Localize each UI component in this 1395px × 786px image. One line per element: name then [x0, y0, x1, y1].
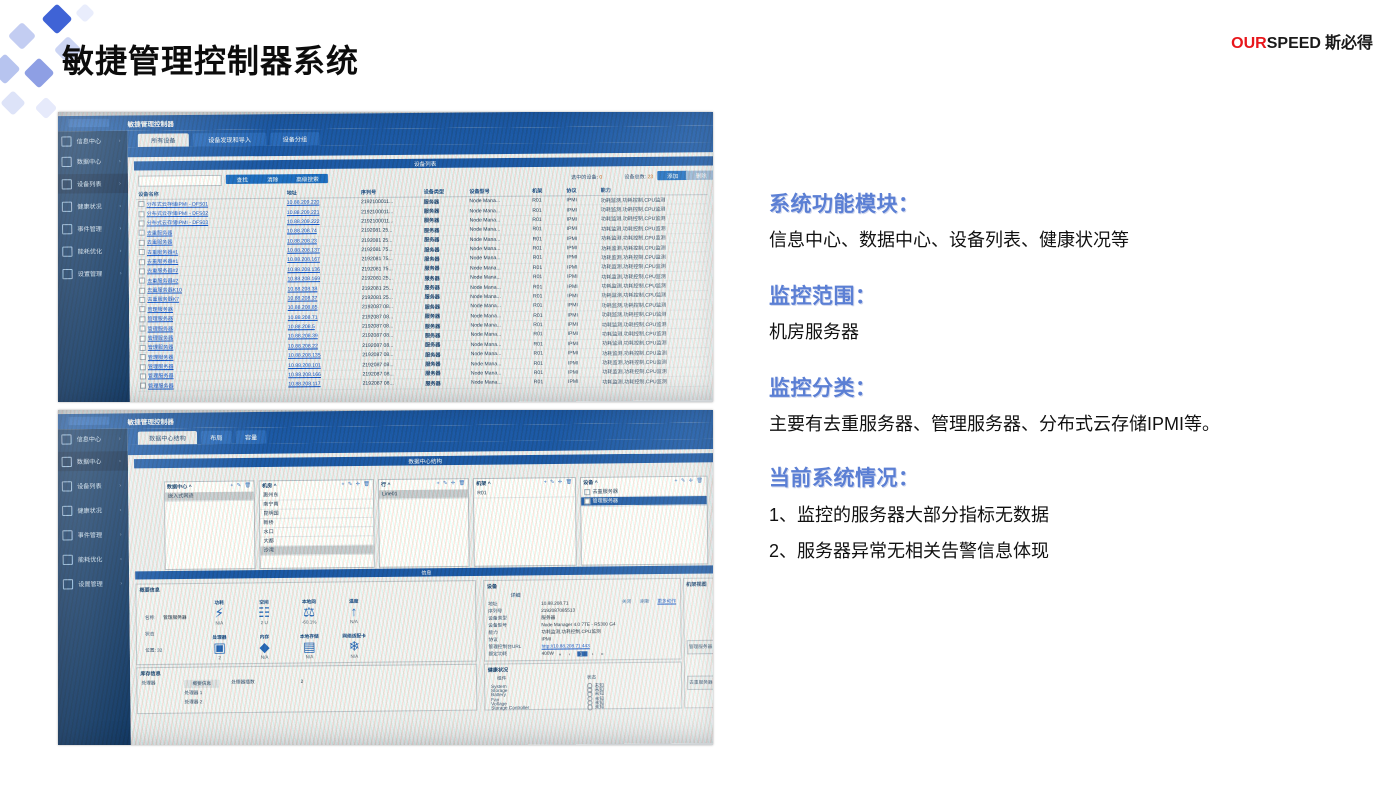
summary-tile: 本地网⚖-60.1% [289, 599, 328, 625]
inventory-mid-cpu2[interactable]: 处理器 2 [184, 699, 202, 705]
cell-6: IPMI [565, 301, 599, 311]
row-checkbox[interactable] [139, 220, 145, 226]
sidebar-label: 事件管理 [78, 530, 103, 539]
field-label: 额定功耗 [489, 651, 508, 657]
inventory-left-item[interactable]: 处理器 [141, 680, 155, 686]
summary-tile: 网络适配卡❄N/A [335, 633, 374, 659]
sidebar-label: 设备列表 [77, 179, 102, 188]
app-title: 敏捷管理控制器 [127, 416, 174, 427]
cell-3: 服务器 [422, 197, 468, 207]
sidebar-item-event[interactable]: 事件管理› [58, 525, 129, 545]
cell-3: 服务器 [423, 292, 469, 302]
section-modules-body: 信息中心、数据中心、设备列表、健康状况等 [769, 227, 1369, 254]
field-label: 设备类型 [488, 615, 507, 621]
total-count-label: 设备总数: 23 [624, 173, 653, 180]
sidebar-label: 能耗优化 [78, 246, 103, 255]
cell-4: Node Mana... [469, 359, 532, 369]
row-checkbox[interactable] [139, 259, 145, 265]
cell-5: R01 [531, 320, 565, 330]
cell-3: 服务器 [423, 340, 469, 350]
scale-icon: ⚖ [290, 605, 329, 620]
cell-5: R01 [532, 358, 566, 368]
sidebar-item-info[interactable]: 信息中心› [58, 131, 128, 151]
cell-6: IPMI [565, 291, 599, 301]
device-card: 设备 详细 更多动作 刷新 关闭 地址10.88.208.71序列号219208… [483, 578, 682, 662]
sidebar-label: 数据中心 [77, 456, 102, 465]
cell-3: 服务器 [423, 369, 469, 379]
cell-3: 服务器 [423, 331, 469, 341]
chevron-right-icon: › [120, 580, 122, 586]
sidebar-item-power[interactable]: 能耗优化› [58, 549, 129, 569]
tree-item[interactable]: 嵌入式网迹 [165, 492, 254, 502]
cell-6: IPMI [565, 253, 599, 263]
section-scope-heading: 监控范围： [769, 280, 1369, 310]
row-checkbox[interactable] [139, 316, 145, 322]
summary-tile: 处理器▣2 [200, 635, 239, 661]
device-detail-label: 详细 [510, 592, 520, 599]
gear-icon [62, 268, 72, 278]
tree-item[interactable]: 沙湾 [261, 545, 374, 555]
cell-6: IPMI [566, 339, 600, 349]
health-icon [62, 505, 72, 515]
find-button[interactable]: 查找 [226, 175, 259, 184]
tile-value: -60.1% [290, 619, 329, 625]
cell-6: IPMI [566, 349, 600, 359]
sidebar-item-info[interactable]: 信息中心› [58, 429, 128, 449]
brand-logo: OURSPEED斯必得 [1231, 29, 1373, 53]
cell-4: Node Mana... [469, 340, 532, 350]
health-caption: 健康状况 [488, 666, 508, 673]
brand-our: OUR [1231, 35, 1267, 52]
row-checkbox[interactable] [138, 211, 144, 217]
field-value: 400W [542, 651, 554, 656]
total-count-value: 23 [648, 174, 654, 180]
cell-6: IPMI [565, 234, 599, 244]
section-category: 监控分类： 主要有去重服务器、管理服务器、分布式云存储IPMI等。 [769, 372, 1369, 438]
cell-5: R01 [531, 349, 565, 359]
cell-2: 2192081 75... [359, 245, 422, 255]
tree-item[interactable]: R01 [474, 488, 575, 498]
cell-6: IPMI [565, 272, 599, 282]
cell-6: IPMI [566, 329, 600, 339]
main-content: 数据中心结构 布局 容量 数据中心结构 数据中心 ^+ ✎ 🗑嵌入式网迹机房 ^… [128, 422, 713, 745]
cell-6: IPMI [565, 243, 599, 253]
cell-6: IPMI [564, 196, 598, 206]
more-actions-link[interactable]: 更多动作 [657, 598, 676, 604]
summary-name-label: 名称: [145, 615, 156, 621]
add-button[interactable]: 添加 [657, 171, 688, 180]
plug-icon: ⚡ [200, 606, 239, 621]
tab-layout[interactable]: 布局 [201, 431, 232, 445]
tile-value: N/A [200, 620, 239, 626]
status-radio [587, 704, 593, 710]
health-component: Storage Controller [491, 705, 529, 710]
chevron-right-icon: › [119, 435, 121, 441]
sidebar-item-devicelist[interactable]: 设备列表› [58, 174, 128, 194]
cell-3: 服务器 [423, 350, 469, 360]
summary-caption: 概要信息 [139, 586, 159, 593]
cell-2: 2192087 08... [360, 340, 423, 350]
row-checkbox[interactable] [140, 345, 146, 351]
sidebar-item-health[interactable]: 健康状况› [58, 196, 128, 216]
field-value: 2192087085513 [541, 608, 575, 613]
cell-5: R01 [531, 253, 565, 263]
status-bullet-1: 1、监控的服务器大部分指标无数据 [769, 501, 1369, 527]
cell-2: 2192087 08... [360, 321, 423, 331]
cell-4: Node Mana... [469, 330, 532, 340]
tree-column-tools[interactable]: + ✎ ✛ 🗑 [674, 478, 703, 484]
cell-2: 2192100011... [359, 207, 422, 217]
cell-6: IPMI [566, 377, 600, 387]
row-checkbox[interactable] [139, 278, 145, 284]
section-category-body: 主要有去重服务器、管理服务器、分布式云存储IPMI等。 [769, 411, 1369, 438]
cell-6: IPMI [565, 310, 599, 320]
cell-2: 2192100011... [359, 216, 422, 226]
cell-4: Node Mana... [468, 225, 531, 235]
summary-name-value: 管理服务器 [163, 615, 187, 621]
health-card: 健康状况 组件 状态 System未知Storage未知Battery未知Fan… [484, 662, 683, 711]
rack-item-dedup[interactable]: 去重服务器 [687, 675, 713, 690]
tile-value: 2 U [245, 620, 284, 626]
summary-tile: 温度↑N/A [334, 598, 373, 624]
cell-5: R01 [530, 215, 564, 225]
cell-2: 2192081 25... [360, 283, 423, 293]
pager-current: 1 [578, 651, 588, 656]
cell-3: 服务器 [422, 235, 468, 245]
field-label: 管理控制台URL [488, 644, 521, 650]
row-checkbox[interactable] [139, 287, 145, 293]
row-checkbox[interactable] [140, 335, 146, 341]
cell-2: 2192087 08... [360, 331, 423, 341]
row-checkbox[interactable] [139, 307, 145, 313]
cell-6: IPMI [565, 215, 599, 225]
dashboard-icon [61, 136, 71, 146]
tile-value: N/A [335, 619, 374, 625]
chevron-right-icon: › [119, 180, 121, 186]
app-logo [68, 417, 109, 426]
field-value: 服务器 [541, 615, 555, 621]
cell-5: R01 [530, 196, 564, 206]
tree-column-title[interactable]: 机架 ^ [476, 480, 491, 487]
health-status: 未知 [587, 704, 604, 710]
chevron-right-icon: › [120, 225, 122, 231]
sidebar-item-event[interactable]: 事件管理› [58, 218, 128, 238]
cell-3: 服务器 [422, 225, 468, 235]
sidebar: 信息中心› 数据中心› 设备列表› 健康状况› 事件管理› 能耗优化› 设置管理… [58, 429, 131, 745]
cell-5: R01 [531, 244, 565, 254]
rack-view-caption: 机架视图 [686, 581, 706, 588]
cell-6: IPMI [564, 205, 598, 215]
cell-6: IPMI [566, 358, 600, 368]
col-type[interactable]: 设备类型 [422, 187, 468, 197]
chevron-right-icon: › [120, 531, 122, 537]
row-checkbox[interactable] [140, 354, 146, 360]
row-checkbox[interactable] [139, 268, 145, 274]
selected-count-label: 选中的设备: 0 [571, 174, 602, 181]
tile-value: N/A [335, 654, 374, 660]
cpu-icon: ▣ [200, 641, 239, 656]
tile-value: N/A [290, 654, 329, 660]
cell-5: R01 [531, 339, 565, 349]
rack-item-mgmt[interactable]: 管理服务器 [687, 640, 713, 655]
sidebar-item-health[interactable]: 健康状况› [58, 500, 129, 520]
search-input[interactable] [138, 175, 222, 187]
screenshot-device-list: 敏捷管理控制器 admin 信息中心› 数据中心› 设备列表› 健康状况› 事件… [58, 112, 713, 402]
cell-2: 2192087 08... [360, 360, 423, 370]
sidebar-item-settings[interactable]: 设置管理› [58, 263, 129, 283]
cell-6: IPMI [565, 320, 599, 330]
device-table: 设备名称 地址 序列号 设备类型 设备型号 机架 协议 能力 分布式云存储IPM… [136, 185, 709, 391]
field-value[interactable]: http://10.88.208.71:443 [542, 643, 590, 649]
device-icon [62, 481, 72, 491]
col-protocol[interactable]: 协议 [564, 186, 598, 196]
cell-5: R01 [530, 225, 564, 235]
cell-6: IPMI [565, 282, 599, 292]
clear-button[interactable]: 清除 [256, 174, 289, 183]
panel-title: 设备列表 [134, 156, 713, 170]
chevron-right-icon: › [119, 137, 121, 143]
tile-value: 2 [200, 655, 239, 661]
cell-2: 2192081 75... [359, 264, 422, 274]
tree-column-title[interactable]: 行 ^ [381, 481, 391, 488]
cell-5: R01 [530, 205, 564, 215]
sidebar-item-settings[interactable]: 设置管理› [58, 573, 129, 593]
field-label: 序列号 [488, 608, 502, 614]
rack-view-card: 机架视图 管理服务器 去重服务器 [683, 577, 713, 708]
cell-2: 2192087 08... [360, 302, 423, 312]
cell-4: Node Mana... [467, 206, 530, 216]
tree-column-title[interactable]: 机房 ^ [262, 482, 277, 489]
power-icon [63, 554, 73, 564]
field-label: 协议 [488, 637, 497, 643]
sidebar-label: 数据中心 [77, 157, 102, 166]
chevron-right-icon: › [120, 248, 122, 254]
nic-icon: ❄ [335, 639, 374, 654]
sidebar-label: 设置管理 [78, 269, 103, 278]
cell-5: R01 [532, 377, 566, 387]
cell-5: R01 [531, 263, 565, 273]
cell-2: 2192087 08... [360, 379, 423, 389]
panel-title: 数据中心结构 [134, 453, 713, 468]
sidebar-label: 能耗优化 [78, 554, 103, 563]
inventory-mid-cpu1[interactable]: 处理器 1 [184, 690, 202, 696]
chevron-right-icon: › [120, 507, 122, 513]
sidebar-label: 设备列表 [77, 481, 102, 490]
cell-2: 2192081 25... [360, 274, 423, 284]
tab-device-group[interactable]: 设备分组 [270, 132, 319, 146]
cell-2: 2192100011... [359, 197, 422, 207]
cell-1[interactable]: 10.88.208.117 [286, 379, 360, 389]
cell-4: Node Mana... [468, 244, 531, 254]
tab-discover-import[interactable]: 设备发现和导入 [193, 133, 267, 147]
section-modules: 系统功能模块： 信息中心、数据中心、设备列表、健康状况等 [769, 188, 1369, 254]
brand-cn: 斯必得 [1325, 35, 1373, 52]
delete-button[interactable]: 删除 [686, 171, 713, 180]
cell-6: IPMI [566, 368, 600, 378]
cell-3: 服务器 [422, 254, 468, 264]
sidebar-item-power[interactable]: 能耗优化› [58, 241, 129, 261]
cell-3: 服务器 [422, 244, 468, 254]
cell-4: Node Mana... [468, 263, 531, 273]
tab-all-devices[interactable]: 所有设备 [138, 133, 189, 147]
summary-tile: 空间☷2 U [245, 599, 284, 625]
thermometer-icon: ↑ [334, 605, 373, 620]
col-serial[interactable]: 序列号 [359, 187, 422, 197]
field-label: 能力 [488, 630, 497, 636]
sidebar-label: 健康状况 [77, 505, 102, 514]
summary-slot-label: 位置: 32 [145, 648, 162, 654]
item-checkbox[interactable] [584, 498, 590, 504]
datacenter-icon [61, 156, 71, 166]
summary-status-label: 状态 [145, 631, 154, 637]
cell-4: Node Mana... [468, 253, 531, 263]
device-icon [62, 179, 72, 189]
datacenter-icon [62, 456, 72, 466]
chevron-right-icon: › [119, 482, 121, 488]
cell-3: 服务器 [422, 283, 468, 293]
row-checkbox[interactable] [140, 383, 146, 389]
pager[interactable]: « ‹ 1 › » [559, 651, 607, 657]
tree-column-tools[interactable]: + ✎ ✛ 🗑 [437, 480, 466, 486]
screenshot-datacenter: 敏捷管理控制器 admin 语言 关于 信息中心› 数据中心› 设备列表› 健康… [58, 410, 713, 745]
tree-column-title[interactable]: 数据中心 ^ [167, 483, 192, 490]
cell-3: 服务器 [423, 378, 469, 388]
tab-capacity[interactable]: 容量 [236, 430, 267, 444]
tree-item[interactable]: 管理服务器 [581, 496, 706, 506]
inventory-caption: 库存信息 [140, 670, 160, 677]
tree-column-2: 行 ^+ ✎ ✛ 🗑Line01 [378, 478, 470, 568]
row-checkbox[interactable] [139, 326, 145, 332]
cell-3: 服务器 [423, 359, 469, 369]
row-checkbox[interactable] [138, 201, 144, 207]
main-content: 所有设备 设备发现和导入 设备分组 设备列表 查找 清除 高级搜索 选中的设备:… [128, 126, 713, 402]
app-title: 敏捷管理控制器 [127, 118, 173, 129]
cell-4: Node Mana... [468, 292, 531, 302]
tree-column-0: 数据中心 ^+ ✎ 🗑嵌入式网迹 [164, 480, 256, 570]
col-rack[interactable]: 机架 [530, 186, 564, 196]
status-bullet-2: 2、服务器异常无相关告警信息体现 [769, 537, 1369, 563]
cell-5: R01 [531, 282, 565, 292]
col-model[interactable]: 设备型号 [467, 186, 530, 196]
field-value: 功耗监测,功耗控制,CPU监测 [541, 629, 600, 636]
health-icon [62, 201, 72, 211]
cell-5: R01 [531, 272, 565, 282]
tree-column-tools[interactable]: + ✎ ✛ 🗑 [544, 479, 573, 485]
sidebar: 信息中心› 数据中心› 设备列表› 健康状况› 事件管理› 能耗优化› 设置管理… [58, 131, 130, 402]
power-icon [62, 246, 72, 256]
health-col-status: 状态 [587, 675, 596, 681]
brand-speed: SPEED [1267, 35, 1321, 52]
app-logo [68, 119, 109, 128]
storage-icon: ▤ [290, 640, 329, 655]
tree-column-1: 机房 ^+ ✎ ✛ 🗑惠州东南宁南昆明国新桥水口大都沙湾 [259, 479, 375, 569]
cell-4: Node Mana... [468, 273, 531, 283]
cell-3: 服务器 [423, 311, 469, 321]
cell-5: R01 [531, 301, 565, 311]
section-status-heading: 当前系统情况： [769, 462, 1369, 492]
cell-2: 2192081 25... [359, 235, 422, 245]
memory-icon: ◆ [245, 640, 284, 655]
sidebar-item-datacenter[interactable]: 数据中心› [58, 451, 128, 471]
chevron-right-icon: › [119, 158, 121, 164]
row-checkbox[interactable] [140, 373, 146, 379]
tab-dc-structure[interactable]: 数据中心结构 [138, 431, 197, 445]
event-icon [62, 224, 72, 234]
cell-4: Node Mana... [468, 311, 531, 321]
cell-0[interactable]: 管理服务器 [138, 380, 286, 391]
row-checkbox[interactable] [139, 230, 145, 236]
sidebar-label: 信息中心 [77, 136, 102, 145]
cell-3: 服务器 [422, 216, 468, 226]
row-checkbox[interactable] [139, 240, 145, 246]
summary-tile: 内存◆N/A [245, 634, 284, 660]
chevron-right-icon: › [120, 556, 122, 562]
cell-5: R01 [531, 311, 565, 321]
dashboard-icon [61, 434, 71, 444]
sidebar-label: 事件管理 [77, 224, 102, 233]
tree-column-tools[interactable]: + ✎ 🗑 [230, 482, 252, 488]
section-scope: 监控范围： 机房服务器 [769, 280, 1369, 346]
tile-value: N/A [245, 654, 284, 660]
tree-column-3: 机架 ^+ ✎ ✛ 🗑R01 [473, 477, 577, 567]
item-checkbox[interactable] [584, 489, 590, 495]
summary-card: 概要信息 名称: 管理服务器 状态 位置: 32 功耗⚡N/A空间☷2 U本地网… [135, 580, 477, 665]
cell-4: Node Mana... [468, 282, 531, 292]
sidebar-label: 信息中心 [77, 434, 102, 443]
cell-4: Node Mana... [468, 301, 531, 311]
event-icon [62, 530, 72, 540]
inventory-right-label: 处理器插数 [231, 679, 255, 685]
description-column: 系统功能模块： 信息中心、数据中心、设备列表、健康状况等 监控范围： 机房服务器… [769, 188, 1369, 573]
rack-icon: ☷ [245, 606, 284, 621]
field-label: 设备型号 [488, 623, 507, 629]
cell-5: R01 [532, 368, 566, 378]
row-checkbox[interactable] [140, 364, 146, 370]
summary-tile: 本地存储▤N/A [290, 634, 329, 660]
cell-3: 服务器 [423, 302, 469, 312]
close-link[interactable]: 关闭 [622, 599, 631, 605]
cell-5: R01 [530, 234, 564, 244]
section-scope-body: 机房服务器 [769, 319, 1369, 346]
health-col-component: 组件 [497, 676, 506, 682]
refresh-link[interactable]: 刷新 [640, 599, 649, 605]
sidebar-item-datacenter[interactable]: 数据中心› [58, 151, 128, 171]
cell-7: 功耗监测,功耗控制,CPU监测 [600, 376, 709, 387]
sidebar-item-devicelist[interactable]: 设备列表› [58, 476, 128, 496]
chevron-right-icon: › [119, 203, 121, 209]
advanced-search-button[interactable]: 高级搜索 [287, 174, 328, 184]
cell-4: Node Mana... [467, 196, 530, 206]
cell-2: 2192081 25... [359, 226, 422, 236]
inventory-mid-summary[interactable]: 概要信息 [184, 680, 219, 689]
cell-5: R01 [531, 330, 565, 340]
row-checkbox[interactable] [139, 249, 145, 255]
section-modules-heading: 系统功能模块： [769, 188, 1369, 218]
section-category-heading: 监控分类： [769, 372, 1369, 402]
cell-3: 服务器 [423, 321, 469, 331]
tree-column-title[interactable]: 设备 ^ [583, 479, 598, 486]
tree-item[interactable]: Line01 [379, 489, 468, 499]
cell-3: 服务器 [422, 264, 468, 274]
cell-4: Node Mana... [469, 368, 532, 378]
row-checkbox[interactable] [139, 297, 145, 303]
sidebar-label: 设置管理 [78, 579, 103, 588]
tree-column-4: 设备 ^+ ✎ ✛ 🗑去重服务器管理服务器 [580, 476, 708, 566]
field-value: IPMI [541, 636, 551, 641]
selected-count-value: 0 [599, 175, 602, 181]
section-status: 当前系统情况： 1、监控的服务器大部分指标无数据 2、服务器异常无相关告警信息体… [769, 462, 1369, 563]
tree-column-tools[interactable]: + ✎ ✛ 🗑 [341, 481, 370, 487]
